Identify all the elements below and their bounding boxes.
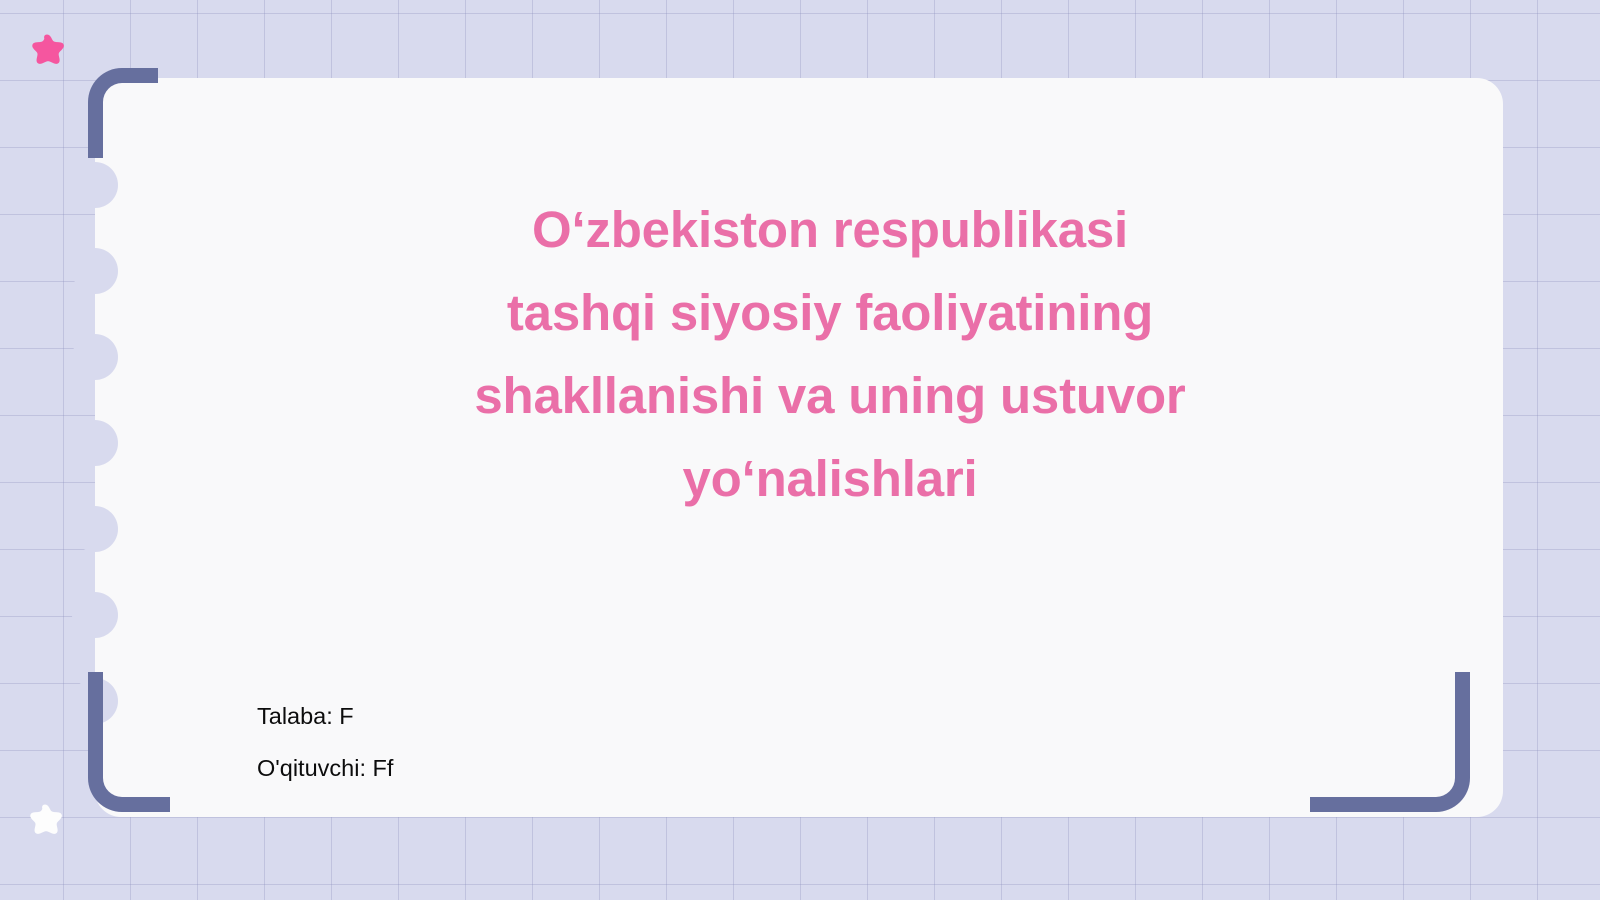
scallop-notch [72, 592, 118, 638]
slide-card: Oʻzbekiston respublikasi tashqi siyosiy … [95, 78, 1503, 817]
star-icon-hot-pink [26, 32, 68, 74]
presentation-slide: Oʻzbekiston respublikasi tashqi siyosiy … [0, 0, 1600, 900]
corner-bracket-top-left [88, 68, 158, 158]
credit-teacher: O'qituvchi: Ff [257, 742, 393, 794]
scallop-notch [72, 420, 118, 466]
title-line-2: tashqi siyosiy faoliyatining [507, 284, 1153, 341]
title-line-4: yoʻnalishlari [682, 450, 977, 507]
title-line-1: Oʻzbekiston respublikasi [532, 201, 1128, 258]
slide-title: Oʻzbekiston respublikasi tashqi siyosiy … [285, 188, 1375, 520]
scallop-notch [72, 506, 118, 552]
corner-bracket-bottom-left [88, 672, 170, 812]
scallop-notch [72, 248, 118, 294]
scallop-notch [72, 334, 118, 380]
scallop-notch [72, 162, 118, 208]
credit-student: Talaba: F [257, 690, 393, 742]
title-line-3: shakllanishi va uning ustuvor [474, 367, 1185, 424]
corner-bracket-bottom-right [1310, 672, 1470, 812]
credits-block: Talaba: F O'qituvchi: Ff [257, 690, 393, 794]
star-icon-white [24, 802, 66, 844]
